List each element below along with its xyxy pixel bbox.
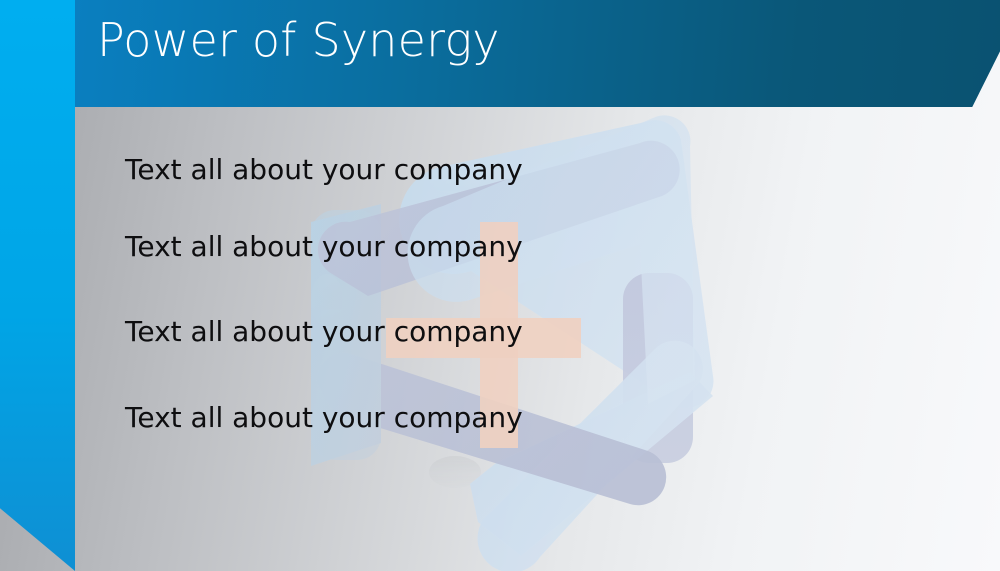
body-text-line-2: Text all about your company [125,233,685,261]
body-text-line-4: Text all about your company [125,404,685,432]
left-accent-bar [0,0,75,571]
page-title: Power of Synergy [97,16,500,64]
body-text-line-3: Text all about your company [125,318,685,346]
header-band: Power of Synergy [75,0,1000,107]
body-text-list: Text all about your company Text all abo… [125,156,685,432]
slide: Power of Synergy Text all about your com… [0,0,1000,571]
body-text-line-1: Text all about your company [125,156,685,184]
